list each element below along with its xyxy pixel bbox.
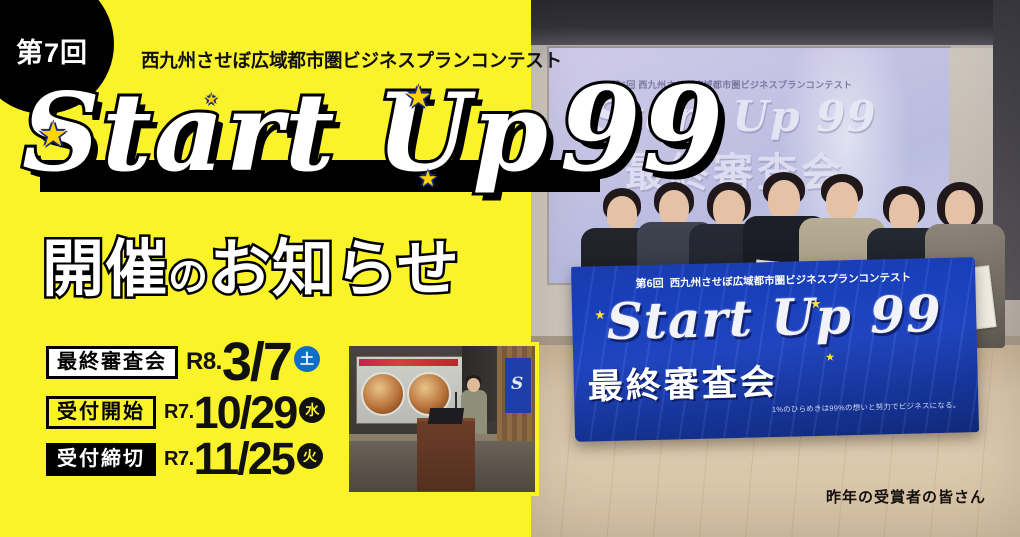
star-icon-top: ★ xyxy=(405,83,432,113)
star-icon-bottom: ★ xyxy=(418,168,438,190)
inset-blue-banner xyxy=(505,358,531,413)
date-row-application-open: 受付開始 R7. 10/29 水 xyxy=(46,393,325,434)
inset-slide-title xyxy=(359,359,458,366)
date-label-final-screening: 最終審査会 xyxy=(46,346,178,379)
photo-caption: 昨年の受賞者の皆さん xyxy=(826,486,986,507)
banner-tagline: 1%のひらめきは99%の想いと努力でビジネスになる。 xyxy=(772,399,961,415)
date-day-final-screening: 3/7 xyxy=(222,338,291,387)
banner-final-label: 最終審査会 xyxy=(587,354,778,410)
inset-presenter-head xyxy=(467,378,480,392)
date-label-application-close: 受付締切 xyxy=(46,443,156,476)
wordmark-text: Start Up xyxy=(22,70,550,196)
date-row-application-close: 受付締切 R7. 11/25 火 xyxy=(46,439,325,480)
date-era-application-open: R7. xyxy=(164,401,194,424)
banner-title: Start Up 99 xyxy=(572,283,977,352)
banner-star-icon-2: ★ xyxy=(810,297,822,310)
date-label-application-open: 受付開始 xyxy=(46,396,156,429)
date-day-application-close: 11/25 xyxy=(194,439,294,480)
inset-podium xyxy=(417,418,475,491)
star-icon-left: ★ xyxy=(38,118,68,152)
date-dow-application-close: 火 xyxy=(297,443,323,469)
ceiling xyxy=(531,0,1020,45)
edition-badge-label: 第7回 xyxy=(16,31,88,70)
blue-banner: 第6回西九州させぼ広域都市圏ビジネスプランコンテスト Start Up 99 最… xyxy=(571,257,979,442)
notice-part-1: 開催 xyxy=(42,235,168,304)
wordmark: Start Up99 xyxy=(22,72,725,188)
banner-star-icon-1: ★ xyxy=(594,308,606,321)
banner-edition: 第6回 xyxy=(635,278,663,291)
wordmark-number: 99 xyxy=(560,62,725,198)
notice-part-2: の xyxy=(168,255,209,299)
date-dow-application-open: 水 xyxy=(299,397,325,423)
notice-part-3: お知らせ xyxy=(209,235,460,304)
presentation-inset-photo xyxy=(345,342,539,496)
poster-root: 第6回 西九州させぼ広域都市圏ビジネスプランコンテスト Start Up 99 … xyxy=(0,0,1020,537)
banner-star-icon-3: ★ xyxy=(825,353,835,364)
notice-headline: 開催のお知らせ xyxy=(42,218,460,308)
inset-slide-photo-left xyxy=(361,372,405,416)
date-day-application-open: 10/29 xyxy=(194,393,297,434)
date-dow-final-screening: 土 xyxy=(294,346,320,372)
date-list: 最終審査会 R8. 3/7 土 受付開始 R7. 10/29 水 受付締切 R7… xyxy=(46,338,325,486)
star-icon-small: ★ xyxy=(205,92,218,106)
inset-laptop xyxy=(428,408,464,424)
date-era-final-screening: R8. xyxy=(186,348,222,376)
date-row-final-screening: 最終審査会 R8. 3/7 土 xyxy=(46,338,325,387)
date-era-application-close: R7. xyxy=(164,448,194,471)
